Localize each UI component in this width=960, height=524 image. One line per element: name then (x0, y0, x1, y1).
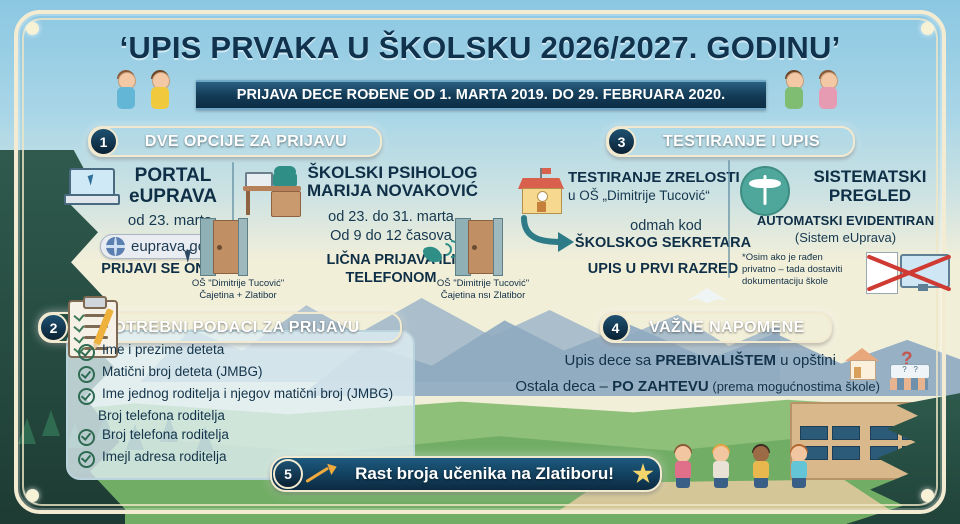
section-4-title: VAŽNE NAPOMENE (630, 319, 830, 337)
important-note-line-1: Upis dece sa PREBIVALIŠTEM u opštini (536, 352, 836, 369)
two-happy-children-icon (116, 72, 136, 112)
check-icon (78, 388, 95, 405)
phone-ringing-icon (424, 240, 454, 270)
list-item (750, 446, 772, 490)
note2-suffix: (prema mogućnostima škole) (709, 379, 880, 394)
house-icon (845, 348, 879, 378)
maturity-test-subtitle: u OŠ „Dimitrije Tucović“ (568, 188, 768, 203)
list-item-label: Ime jednog roditelja i njegov matični br… (102, 386, 393, 402)
door-caption-left-line2: Čajetina + Zlatibor (176, 290, 300, 302)
systematic-exam-note-line1: AUTOMATSKI EVIDENTIRAN (738, 214, 953, 228)
frame-corner-dot (921, 489, 934, 502)
two-happy-children-icon (818, 72, 838, 112)
list-item-label: Imejl adresa roditelja (102, 449, 227, 465)
list-item: Matični broj deteta (JMBG) (78, 364, 408, 383)
important-note-line-2: Ostala deca – PO ZAHTEVU (prema mogućnos… (500, 378, 880, 395)
section-2-number: 2 (39, 313, 68, 342)
systematic-exam-note-line2: (Sistem eUprava) (738, 230, 953, 245)
psychologist-title-line2: MARIJA NOVAKOVIĆ (300, 182, 485, 200)
list-item: Ime i prezime deteta (78, 342, 408, 361)
list-item (710, 446, 732, 490)
psychologist-title: ŠKOLSKI PSIHOLOG MARIJA NOVAKOVIĆ (300, 164, 485, 201)
list-item-continuation: Broj telefona roditelja (98, 408, 408, 424)
list-item-label: Ime i prezime deteta (102, 342, 224, 358)
check-icon (78, 451, 95, 468)
infographic-poster: ‘UPIS PRVAKA U ŠKOLSKU 2026/2027. GODINU… (0, 0, 960, 524)
star-icon (632, 463, 654, 485)
check-icon (78, 366, 95, 383)
door-icon (200, 218, 246, 274)
section-1-number: 1 (89, 127, 118, 156)
note1-suffix: u opštini (776, 352, 836, 369)
section-1-title: DVE OPCIJE ZA PRIJAVU (118, 133, 380, 151)
list-item: Broj telefona roditelja (78, 427, 408, 446)
door-caption-left: OŠ "Dimitrije Tucović" Čajetina + Zlatib… (176, 278, 300, 301)
frame-corner-dot (26, 489, 39, 502)
portal-title-line1: PORTAL (118, 166, 228, 187)
maturity-test-title: TESTIRANJE ZRELOSTI (568, 170, 768, 186)
document-and-monitor-crossed-out-icon (866, 250, 950, 296)
check-icon (78, 429, 95, 446)
list-item-label: Broj telefona roditelja (102, 427, 229, 443)
section-5-number: 5 (273, 459, 303, 489)
footnote-line3: dokumentaciju škole (742, 276, 864, 288)
systematic-exam-title-line2: PREGLED (790, 187, 950, 206)
psychologist-title-line1: ŠKOLSKI PSIHOLOG (300, 164, 485, 182)
two-happy-children-icon (784, 72, 804, 112)
list-item-label: Matični broj deteta (JMBG) (102, 364, 263, 380)
list-item (788, 446, 810, 490)
laptop-icon (64, 168, 116, 204)
systematic-exam-title: SISTEMATSKI PREGLED (790, 168, 950, 205)
footnote-line1: *Osim ako je rađen (742, 252, 864, 264)
section-5-banner: 5 Rast broja učenika na Zlatiboru! (270, 456, 662, 492)
section-3-header: 3 TESTIRANJE I UPIS (606, 126, 855, 157)
people-question-icon: ?? ? (888, 352, 930, 390)
door-caption-right-line1: OŠ "Dimitrije Tucović" (420, 278, 546, 290)
note1-prefix: Upis dece sa (564, 352, 655, 369)
page-title: ‘UPIS PRVAKA U ŠKOLSKU 2026/2027. GODINU… (0, 30, 960, 66)
section-5-title: Rast broja učenika na Zlatiboru! (337, 464, 632, 484)
check-icon (78, 344, 95, 361)
column-divider (728, 160, 730, 278)
note2-prefix: Ostala deca – (515, 378, 612, 395)
door-caption-right: OŠ "Dimitrije Tucović" Čajetina nsı Zlat… (420, 278, 546, 301)
section-3-number: 3 (607, 127, 636, 156)
door-icon (455, 218, 501, 274)
door-caption-right-line2: Čajetina nsı Zlatibor (420, 290, 546, 302)
list-item (672, 446, 694, 490)
two-happy-children-icon (150, 72, 170, 112)
portal-title-line2: eUPRAVA (118, 187, 228, 208)
required-data-list: Ime i prezime deteta Matični broj deteta… (78, 342, 408, 471)
maturity-note-line1: odmah kod (566, 218, 766, 234)
footnote-line2: privatno – tada dostaviti (742, 264, 864, 276)
section-4-number: 4 (601, 313, 630, 342)
subtitle-banner: PRIJAVA DECE ROĐENE OD 1. MARTA 2019. DO… (196, 80, 766, 110)
note2-bold: PO ZAHTEVU (612, 378, 709, 395)
school-building-icon (518, 170, 564, 214)
systematic-exam-footnote: *Osim ako je rađen privatno – tada dosta… (742, 252, 864, 288)
door-caption-left-line1: OŠ "Dimitrije Tucović" (176, 278, 300, 290)
portal-title: PORTAL eUPRAVA (118, 166, 228, 207)
section-3-title: TESTIRANJE I UPIS (636, 133, 853, 151)
list-item: Ime jednog roditelja i njegov matični br… (78, 386, 408, 405)
globe-icon (106, 237, 125, 256)
desk-with-phone-icon (243, 170, 301, 216)
section-4-header: 4 VAŽNE NAPOMENE (600, 312, 832, 343)
systematic-exam-title-line1: SISTEMATSKI (790, 168, 950, 187)
note1-bold: PREBIVALIŠTEM (655, 352, 776, 369)
caduceus-medical-icon (740, 166, 790, 216)
section-1-header: 1 DVE OPCIJE ZA PRIJAVU (88, 126, 382, 157)
maturity-note-line3: UPIS U PRVI RAZRED (556, 262, 770, 278)
growth-arrow-icon (307, 463, 337, 485)
